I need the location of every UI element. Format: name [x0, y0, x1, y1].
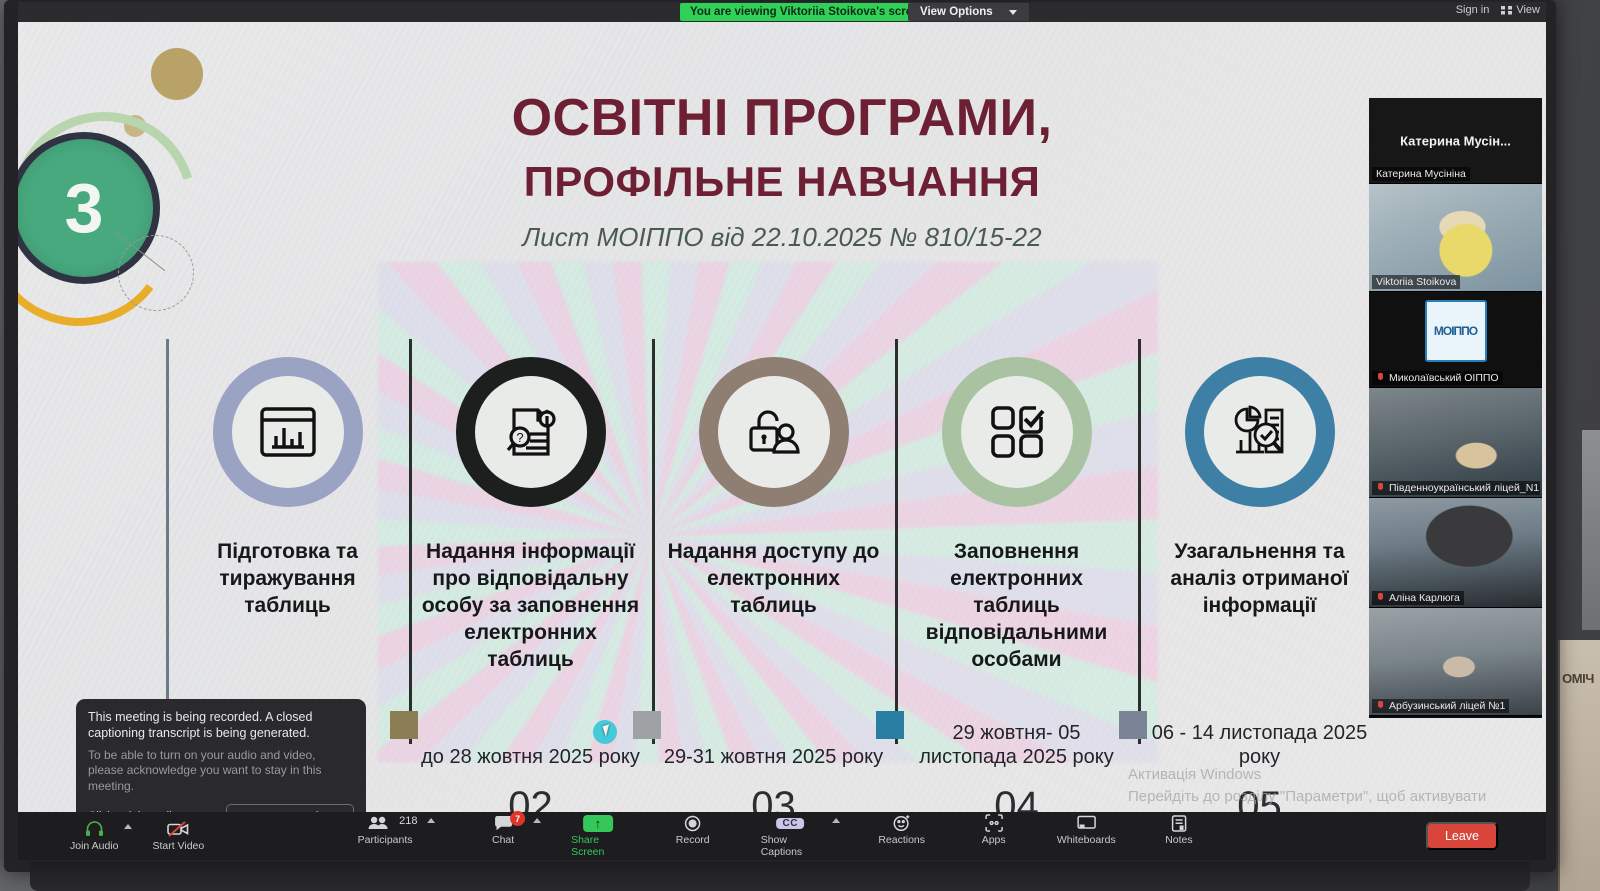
- step-date: 06 - 14 листопада 2025 року: [1144, 721, 1375, 769]
- monitor-stand: [30, 862, 1530, 891]
- participant-name: Південноукраїнський ліцей_N1 і...: [1389, 482, 1540, 494]
- whiteboards-button[interactable]: Whiteboards: [1062, 814, 1111, 858]
- slide-title: ОСВІТНІ ПРОГРАМИ,: [18, 88, 1546, 148]
- slide-subtitle: ПРОФІЛЬНЕ НАВЧАННЯ: [18, 158, 1546, 206]
- step-icon-ring: [699, 357, 849, 507]
- participant-name: Аліна Карлюга: [1389, 592, 1460, 604]
- unlock-user-icon: [718, 376, 830, 488]
- share-screen-button[interactable]: ↑ Share Screen: [571, 814, 625, 858]
- step-icon-ring: [1185, 357, 1335, 507]
- share-screen-label: Share Screen: [571, 834, 625, 858]
- apps-icon: [985, 814, 1003, 832]
- step-divider: [1138, 339, 1141, 744]
- video-tile[interactable]: Південноукраїнський ліцей_N1 і...: [1369, 388, 1542, 498]
- headset-icon: [85, 820, 104, 838]
- grid-view-icon: [1501, 6, 1512, 15]
- organization-logo: МОІППО: [1425, 300, 1487, 362]
- active-speaker-name: Катерина Мусін...: [1369, 133, 1542, 148]
- step-label: Узагальнення та аналіз отриманої інформа…: [1150, 539, 1369, 620]
- apps-label: Apps: [982, 834, 1006, 846]
- participant-name: Арбузинський ліцей №1: [1389, 700, 1505, 712]
- step-divider: [166, 339, 169, 744]
- participants-filmstrip[interactable]: Катерина Мусін... Катерина Мусініна Vikt…: [1369, 98, 1542, 718]
- apps-button[interactable]: Apps: [970, 814, 1018, 858]
- chevron-down-icon: [1009, 10, 1017, 15]
- chevron-up-icon[interactable]: [427, 818, 435, 823]
- video-tile-name: Катерина Мусініна: [1372, 167, 1470, 181]
- step-swatch: [390, 711, 418, 739]
- monitor-photo: ОМІЧ You are viewing Viktoriia Stoikova'…: [0, 0, 1600, 891]
- step-divider: [652, 339, 655, 744]
- step-divider: [409, 339, 412, 744]
- cc-icon: CC: [776, 814, 803, 832]
- record-icon: [684, 814, 701, 832]
- chat-button[interactable]: 7 Chat: [479, 814, 527, 858]
- step-icon-ring: ?: [456, 357, 606, 507]
- chevron-up-icon[interactable]: [832, 818, 840, 823]
- mic-muted-icon: [1376, 373, 1385, 383]
- step-label: Підготовка та тиражування таблиць: [178, 539, 397, 620]
- analytics-magnifier-icon: [1204, 376, 1316, 488]
- show-captions-label: Show Captions: [761, 834, 820, 858]
- step-icon-ring: [213, 357, 363, 507]
- step-icon-ring: [942, 357, 1092, 507]
- video-tile[interactable]: Арбузинський ліцей №1: [1369, 608, 1542, 716]
- participant-name: Катерина Мусініна: [1376, 168, 1466, 180]
- mic-muted-icon: [1376, 593, 1385, 603]
- step-date: 29 жовтня- 05 листопада 2025 року: [901, 721, 1132, 769]
- step-swatch: [633, 711, 661, 739]
- chat-unread-badge: 7: [510, 811, 525, 826]
- whiteboards-label: Whiteboards: [1057, 834, 1116, 846]
- step-swatch: [876, 711, 904, 739]
- viewing-screen-banner: You are viewing Viktoriia Stoikova's scr…: [680, 3, 936, 21]
- checklist-grid-icon: [961, 376, 1073, 488]
- chevron-up-icon[interactable]: [124, 824, 132, 829]
- sign-in-label: Sign in: [1456, 4, 1490, 16]
- reactions-label: Reactions: [878, 834, 925, 846]
- chat-label: Chat: [492, 834, 514, 846]
- windows-activation-watermark: Активація Windows Перейдіть до розділу "…: [1128, 764, 1546, 812]
- sign-in-button[interactable]: Sign in: [1456, 4, 1490, 16]
- record-button[interactable]: Record: [669, 814, 717, 858]
- start-video-button[interactable]: Start Video: [152, 820, 204, 852]
- process-step: Узагальнення та аналіз отриманої інформа…: [1138, 327, 1381, 797]
- zoom-top-bar: You are viewing Viktoriia Stoikova's scr…: [18, 2, 1546, 22]
- mic-muted-icon: [1376, 483, 1385, 493]
- video-tile-name: Аліна Карлюга: [1372, 591, 1464, 605]
- video-tile-name: Миколаївський ОІППО: [1372, 371, 1503, 385]
- participants-button[interactable]: 218 Participants: [361, 814, 409, 858]
- video-tile[interactable]: Аліна Карлюга: [1369, 498, 1542, 608]
- slide-reference: Лист МОІППО від 22.10.2025 № 810/15-22: [18, 222, 1546, 253]
- step-date: 29-31 жовтня 2025 року: [658, 745, 889, 769]
- notes-label: Notes: [1165, 834, 1192, 846]
- notes-button[interactable]: Notes: [1155, 814, 1203, 858]
- view-layout-label: View: [1516, 4, 1540, 16]
- step-date: до 28 жовтня 2025 року: [415, 745, 646, 769]
- participant-name: Viktoriia Stoikova: [1376, 276, 1456, 288]
- participants-icon: [368, 814, 402, 832]
- wall-strip: [1582, 430, 1600, 630]
- chart-window-icon: [232, 376, 344, 488]
- whiteboard-icon: [1077, 814, 1096, 832]
- show-captions-button[interactable]: CC Show Captions: [761, 814, 820, 858]
- video-tile-name: Арбузинський ліцей №1: [1372, 699, 1509, 713]
- video-tile-name: Південноукраїнський ліцей_N1 і...: [1372, 481, 1540, 495]
- recording-notice-secondary: To be able to turn on your audio and vid…: [88, 748, 354, 795]
- view-options-button[interactable]: View Options: [908, 3, 1029, 21]
- step-number: 02: [409, 784, 652, 812]
- step-label: Надання доступу до електронних таблиць: [664, 539, 883, 620]
- participants-label: Participants: [358, 834, 413, 846]
- top-right-controls: Sign in View: [1456, 4, 1540, 16]
- step-number: 03: [652, 784, 895, 812]
- step-label: Заповнення електронних таблиць відповіда…: [907, 539, 1126, 673]
- video-tile-name: Viktoriia Stoikova: [1372, 275, 1460, 289]
- participant-name: Миколаївський ОІППО: [1389, 372, 1499, 384]
- reactions-icon: [893, 814, 911, 832]
- svg-text:?: ?: [516, 430, 523, 445]
- screen: You are viewing Viktoriia Stoikova's scr…: [18, 2, 1546, 860]
- step-swatch: [1119, 711, 1147, 739]
- video-tile[interactable]: МОІППО Миколаївський ОІППО: [1369, 292, 1542, 388]
- step-label: Надання інформації про відповідальну осо…: [421, 539, 640, 673]
- join-audio-label: Join Audio: [70, 840, 118, 852]
- view-options-label: View Options: [920, 6, 993, 18]
- notes-icon: [1171, 814, 1187, 832]
- participants-count: 218: [399, 815, 417, 827]
- join-audio-button[interactable]: Join Audio: [70, 820, 118, 852]
- zoom-bottom-toolbar: Join Audio Start Video: [18, 812, 1546, 860]
- share-screen-icon: ↑: [583, 814, 614, 832]
- start-video-label: Start Video: [152, 840, 204, 852]
- leave-button[interactable]: Leave: [1426, 822, 1498, 850]
- mic-muted-icon: [1376, 701, 1385, 711]
- reactions-button[interactable]: Reactions: [878, 814, 926, 858]
- process-step: Надання доступу до електронних таблиць 2…: [652, 327, 895, 797]
- shared-slide: 3 ОСВІТНІ ПРОГРАМИ, ПРОФІЛЬНЕ НАВЧАННЯ Л…: [18, 22, 1546, 812]
- activation-line-1: Активація Windows: [1128, 764, 1546, 786]
- chevron-up-icon[interactable]: [533, 818, 541, 823]
- activation-line-2: Перейдіть до розділу "Параметри", щоб ак…: [1128, 786, 1546, 812]
- document-info-search-icon: ?: [475, 376, 587, 488]
- video-off-icon: [167, 820, 189, 838]
- video-tile[interactable]: Viktoriia Stoikova: [1369, 184, 1542, 292]
- step-number: 04: [895, 784, 1138, 812]
- step-divider: [895, 339, 898, 744]
- record-label: Record: [676, 834, 710, 846]
- video-tile-active-speaker[interactable]: Катерина Мусін... Катерина Мусініна: [1369, 98, 1542, 184]
- wall-poster-text: ОМІЧ: [1558, 672, 1598, 686]
- process-step: Заповнення електронних таблиць відповіда…: [895, 327, 1138, 797]
- recording-notice-primary: This meeting is being recorded. A closed…: [88, 709, 354, 742]
- view-layout-button[interactable]: View: [1501, 4, 1540, 16]
